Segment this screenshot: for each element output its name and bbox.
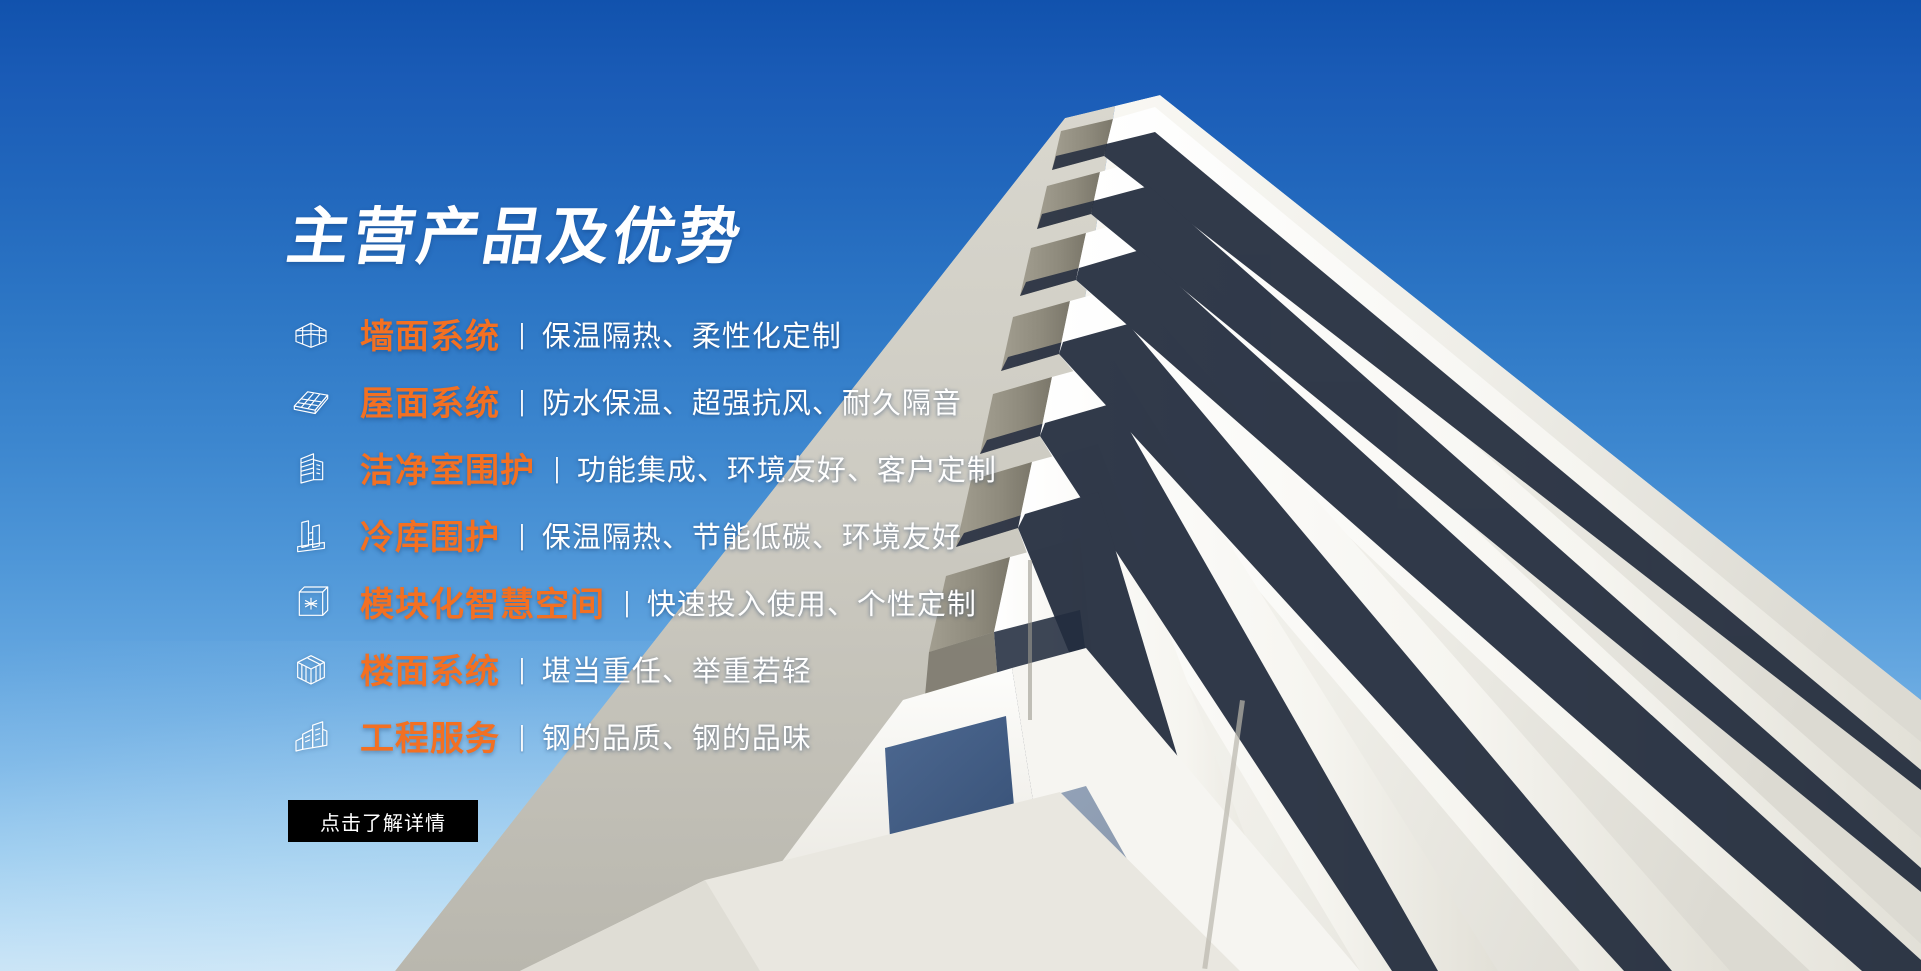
- feature-name: 工程服务: [360, 711, 500, 760]
- feature-row[interactable]: 模块化智慧空间 | 快速投入使用、个性定制: [288, 568, 1208, 635]
- feature-row[interactable]: 冷库围护 | 保温隔热、节能低碳、环境友好: [288, 501, 1208, 568]
- feature-row[interactable]: 楼面系统 | 堪当重任、举重若轻: [288, 635, 1208, 702]
- feature-separator: |: [520, 385, 524, 417]
- feature-row[interactable]: 工程服务 | 钢的品质、钢的品味: [288, 702, 1208, 769]
- roof-panel-icon: [288, 378, 334, 424]
- feature-separator: |: [520, 720, 524, 752]
- wall-panel-icon: [288, 311, 334, 357]
- cleanroom-building-icon: [288, 445, 334, 491]
- feature-separator: |: [625, 586, 629, 618]
- feature-name: 楼面系统: [360, 644, 500, 693]
- feature-description: 保温隔热、柔性化定制: [542, 313, 842, 355]
- feature-separator: |: [520, 318, 524, 350]
- feature-row[interactable]: 洁净室围护 | 功能集成、环境友好、客户定制: [288, 434, 1208, 501]
- feature-description: 防水保温、超强抗风、耐久隔音: [542, 380, 962, 422]
- modular-space-icon: [288, 579, 334, 625]
- feature-description: 堪当重任、举重若轻: [542, 648, 812, 690]
- learn-more-button[interactable]: 点击了解详情: [288, 800, 478, 842]
- feature-row[interactable]: 屋面系统 | 防水保温、超强抗风、耐久隔音: [288, 367, 1208, 434]
- feature-list: 墙面系统 | 保温隔热、柔性化定制 屋面系统: [288, 300, 1208, 769]
- feature-name: 洁净室围护: [360, 443, 535, 492]
- page-title: 主营产品及优势: [283, 206, 748, 268]
- engineering-service-icon: [288, 713, 334, 759]
- feature-name: 屋面系统: [360, 376, 500, 425]
- feature-name: 模块化智慧空间: [360, 577, 605, 626]
- banner-content: 主营产品及优势 墙面系统 | 保温隔热、柔性化定: [0, 0, 1921, 971]
- floor-deck-icon: [288, 646, 334, 692]
- banner-stage: 主营产品及优势 墙面系统 | 保温隔热、柔性化定: [0, 0, 1921, 971]
- feature-separator: |: [520, 653, 524, 685]
- feature-description: 功能集成、环境友好、客户定制: [577, 447, 997, 489]
- feature-separator: |: [520, 519, 524, 551]
- feature-name: 冷库围护: [360, 510, 500, 559]
- feature-description: 保温隔热、节能低碳、环境友好: [542, 514, 962, 556]
- feature-name: 墙面系统: [360, 309, 500, 358]
- feature-row[interactable]: 墙面系统 | 保温隔热、柔性化定制: [288, 300, 1208, 367]
- feature-separator: |: [555, 452, 559, 484]
- coldstorage-icon: [288, 512, 334, 558]
- feature-description: 钢的品质、钢的品味: [542, 715, 812, 757]
- feature-description: 快速投入使用、个性定制: [647, 581, 977, 623]
